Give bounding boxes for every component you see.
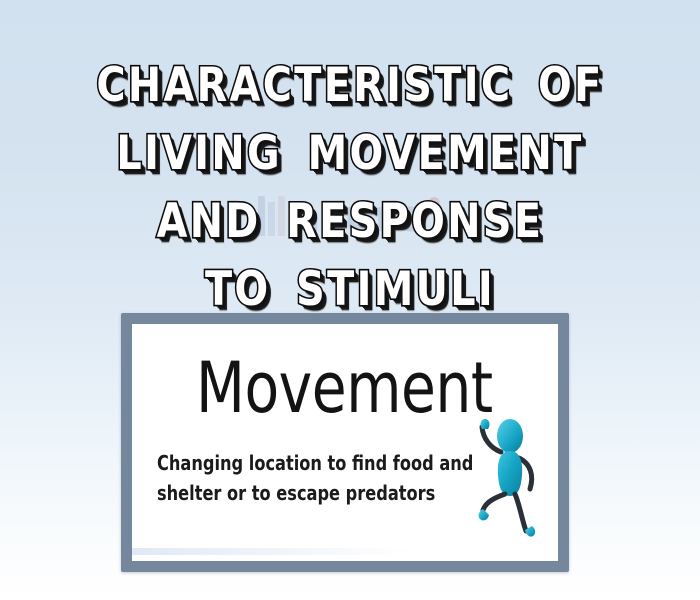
movement-description: Changing location to find food and shelt…	[157, 448, 427, 508]
page-title: CHARACTERISTIC OF LIVING MOVEMENT AND RE…	[0, 52, 700, 324]
watermark-bars-icon	[258, 196, 285, 236]
movement-description-line-1: Changing location to find food and	[157, 448, 427, 478]
running-person-icon	[470, 410, 548, 546]
picture-frame: Movement Changing location to find food …	[121, 313, 569, 572]
watermark-text: azure	[291, 191, 424, 242]
slide-canvas: azure ● CHARACTERISTIC OF LIVING MOVEMEN…	[0, 0, 700, 600]
watermark: azure ●	[0, 186, 700, 246]
picture-card: Movement Changing location to find food …	[132, 324, 558, 561]
headline-line-2: LIVING MOVEMENT	[21, 120, 679, 188]
headline-line-1: CHARACTERISTIC OF	[21, 52, 679, 120]
headline-line-3: AND RESPONSE	[21, 188, 679, 256]
movement-description-line-2: shelter or to escape predators	[157, 478, 427, 508]
movement-heading: Movement	[196, 352, 493, 424]
watermark-dot-icon: ●	[426, 186, 442, 217]
